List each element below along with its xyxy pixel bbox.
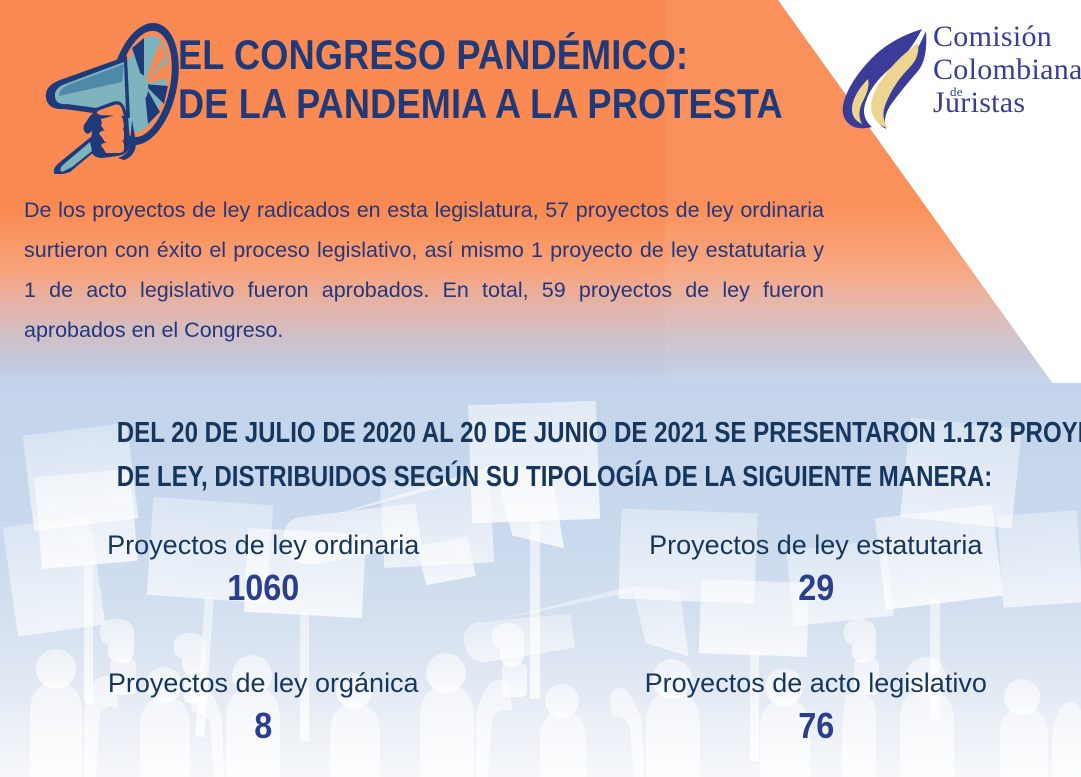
- title-line-2: DE LA PANDEMIA A LA PROTESTA: [178, 79, 677, 128]
- stat-label: Proyectos de acto legislativo: [551, 666, 1081, 700]
- banner-line-2: DE LEY, DISTRIBUIDOS SEGÚN SU TIPOLOGÍA …: [117, 455, 964, 499]
- intro-paragraph: De los proyectos de ley radicados en est…: [24, 190, 824, 350]
- stat-label: Proyectos de ley orgánica: [0, 666, 527, 700]
- intro-paragraph-text: De los proyectos de ley radicados en est…: [24, 190, 824, 350]
- stat-ley-organica: Proyectos de ley orgánica 8: [0, 666, 541, 752]
- logo-line-comision: Comisión: [933, 22, 1078, 52]
- banner-heading: DEL 20 DE JULIO DE 2020 AL 20 DE JUNIO D…: [30, 411, 1051, 499]
- stat-acto-legislativo: Proyectos de acto legislativo 76: [541, 666, 1081, 752]
- stat-value: 29: [577, 562, 1054, 614]
- page-title: EL CONGRESO PANDÉMICO: DE LA PANDEMIA A …: [178, 30, 758, 128]
- title-line-1: EL CONGRESO PANDÉMICO:: [178, 30, 677, 79]
- stat-label: Proyectos de ley estatutaria: [551, 528, 1081, 562]
- logo-de-text: de: [950, 85, 963, 98]
- statistics-row-1: Proyectos de ley ordinaria 1060 Proyecto…: [0, 528, 1081, 614]
- stat-value: 76: [577, 700, 1054, 752]
- logo-line-juristas: de Juristas: [933, 88, 1078, 118]
- infographic-page: EL CONGRESO PANDÉMICO: DE LA PANDEMIA A …: [0, 0, 1081, 777]
- stat-value: 8: [26, 700, 500, 752]
- stat-label: Proyectos de ley ordinaria: [0, 528, 527, 562]
- statistics-section: DEL 20 DE JULIO DE 2020 AL 20 DE JUNIO D…: [0, 383, 1081, 777]
- statistics-row-2: Proyectos de ley orgánica 8 Proyectos de…: [0, 666, 1081, 752]
- logo-line-colombiana: Colombiana: [933, 55, 1078, 85]
- stat-ley-estatutaria: Proyectos de ley estatutaria 29: [541, 528, 1081, 614]
- stats-row-spacer: [0, 614, 1081, 666]
- logo-juristas-text: Juristas: [933, 86, 1025, 119]
- logo-text: Comisión Colombiana de Juristas: [933, 22, 1078, 118]
- banner-line-1: DEL 20 DE JULIO DE 2020 AL 20 DE JUNIO D…: [117, 411, 964, 455]
- statistics-grid: Proyectos de ley ordinaria 1060 Proyecto…: [0, 528, 1081, 752]
- organization-logo: Comisión Colombiana de Juristas: [838, 22, 1076, 138]
- megaphone-icon: [32, 12, 188, 174]
- flame-icon: [838, 25, 930, 133]
- stat-value: 1060: [26, 562, 500, 614]
- stat-ley-ordinaria: Proyectos de ley ordinaria 1060: [0, 528, 541, 614]
- header-section: EL CONGRESO PANDÉMICO: DE LA PANDEMIA A …: [0, 0, 1081, 384]
